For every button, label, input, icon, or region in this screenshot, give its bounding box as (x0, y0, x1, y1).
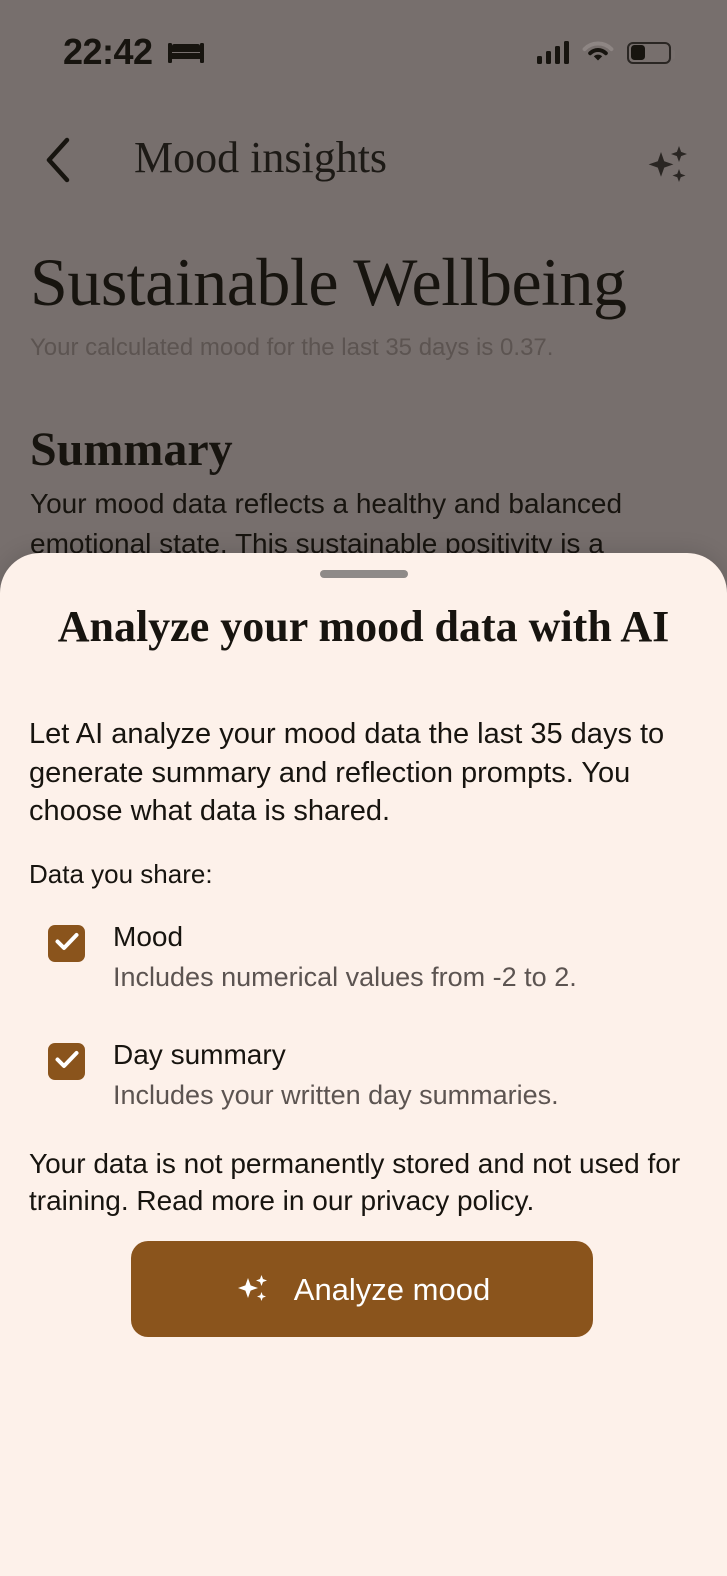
analyze-mood-label: Analyze mood (294, 1274, 490, 1305)
sheet-description: Let AI analyze your mood data the last 3… (29, 715, 689, 831)
checkbox-day-summary-title: Day summary (113, 1037, 559, 1072)
status-bar-right (537, 38, 672, 67)
sheet-title: Analyze your mood data with AI (0, 601, 727, 654)
checkbox-mood-description: Includes numerical values from -2 to 2. (113, 960, 577, 995)
status-bar-left: 22:42 (63, 34, 205, 70)
back-button[interactable] (34, 138, 82, 186)
page-title: Sustainable Wellbeing (30, 248, 700, 316)
wifi-icon (582, 38, 614, 67)
navigation-bar: Mood insights (0, 122, 727, 202)
chevron-left-icon (44, 137, 72, 188)
checkbox-day-summary-texts: Day summary Includes your written day su… (113, 1037, 559, 1113)
bed-icon (167, 39, 205, 65)
sparkles-icon (234, 1269, 272, 1310)
checkbox-row-day-summary[interactable]: Day summary Includes your written day su… (48, 1037, 698, 1113)
dimmed-background-page[interactable]: 22:42 (0, 0, 727, 620)
drag-handle[interactable] (320, 570, 408, 578)
checkbox-day-summary-description: Includes your written day summaries. (113, 1078, 559, 1113)
analyze-mood-button[interactable]: Analyze mood (131, 1241, 593, 1337)
battery-icon (627, 42, 671, 64)
checkbox-mood-texts: Mood Includes numerical values from -2 t… (113, 919, 577, 995)
phone-screen: 22:42 (0, 0, 727, 1576)
checkbox-mood[interactable] (48, 925, 85, 962)
status-bar: 22:42 (0, 0, 727, 100)
cellular-signal-icon (537, 42, 570, 64)
summary-heading: Summary (30, 424, 233, 477)
bottom-sheet: Analyze your mood data with AI Let AI an… (0, 553, 727, 1576)
page-header: Sustainable Wellbeing Your calculated mo… (30, 248, 700, 363)
data-share-label: Data you share: (29, 859, 213, 890)
summary-body-text: Your mood data reflects a healthy and ba… (30, 484, 702, 564)
page-title-navbar: Mood insights (134, 132, 387, 185)
check-icon (55, 1050, 79, 1074)
status-bar-clock: 22:42 (63, 34, 153, 70)
privacy-note: Your data is not permanently stored and … (29, 1145, 697, 1219)
page-subtitle: Your calculated mood for the last 35 day… (30, 332, 700, 363)
sparkles-icon[interactable] (641, 136, 693, 188)
check-icon (55, 932, 79, 956)
checkbox-mood-title: Mood (113, 919, 577, 954)
checkbox-day-summary[interactable] (48, 1043, 85, 1080)
checkbox-row-mood[interactable]: Mood Includes numerical values from -2 t… (48, 919, 698, 995)
